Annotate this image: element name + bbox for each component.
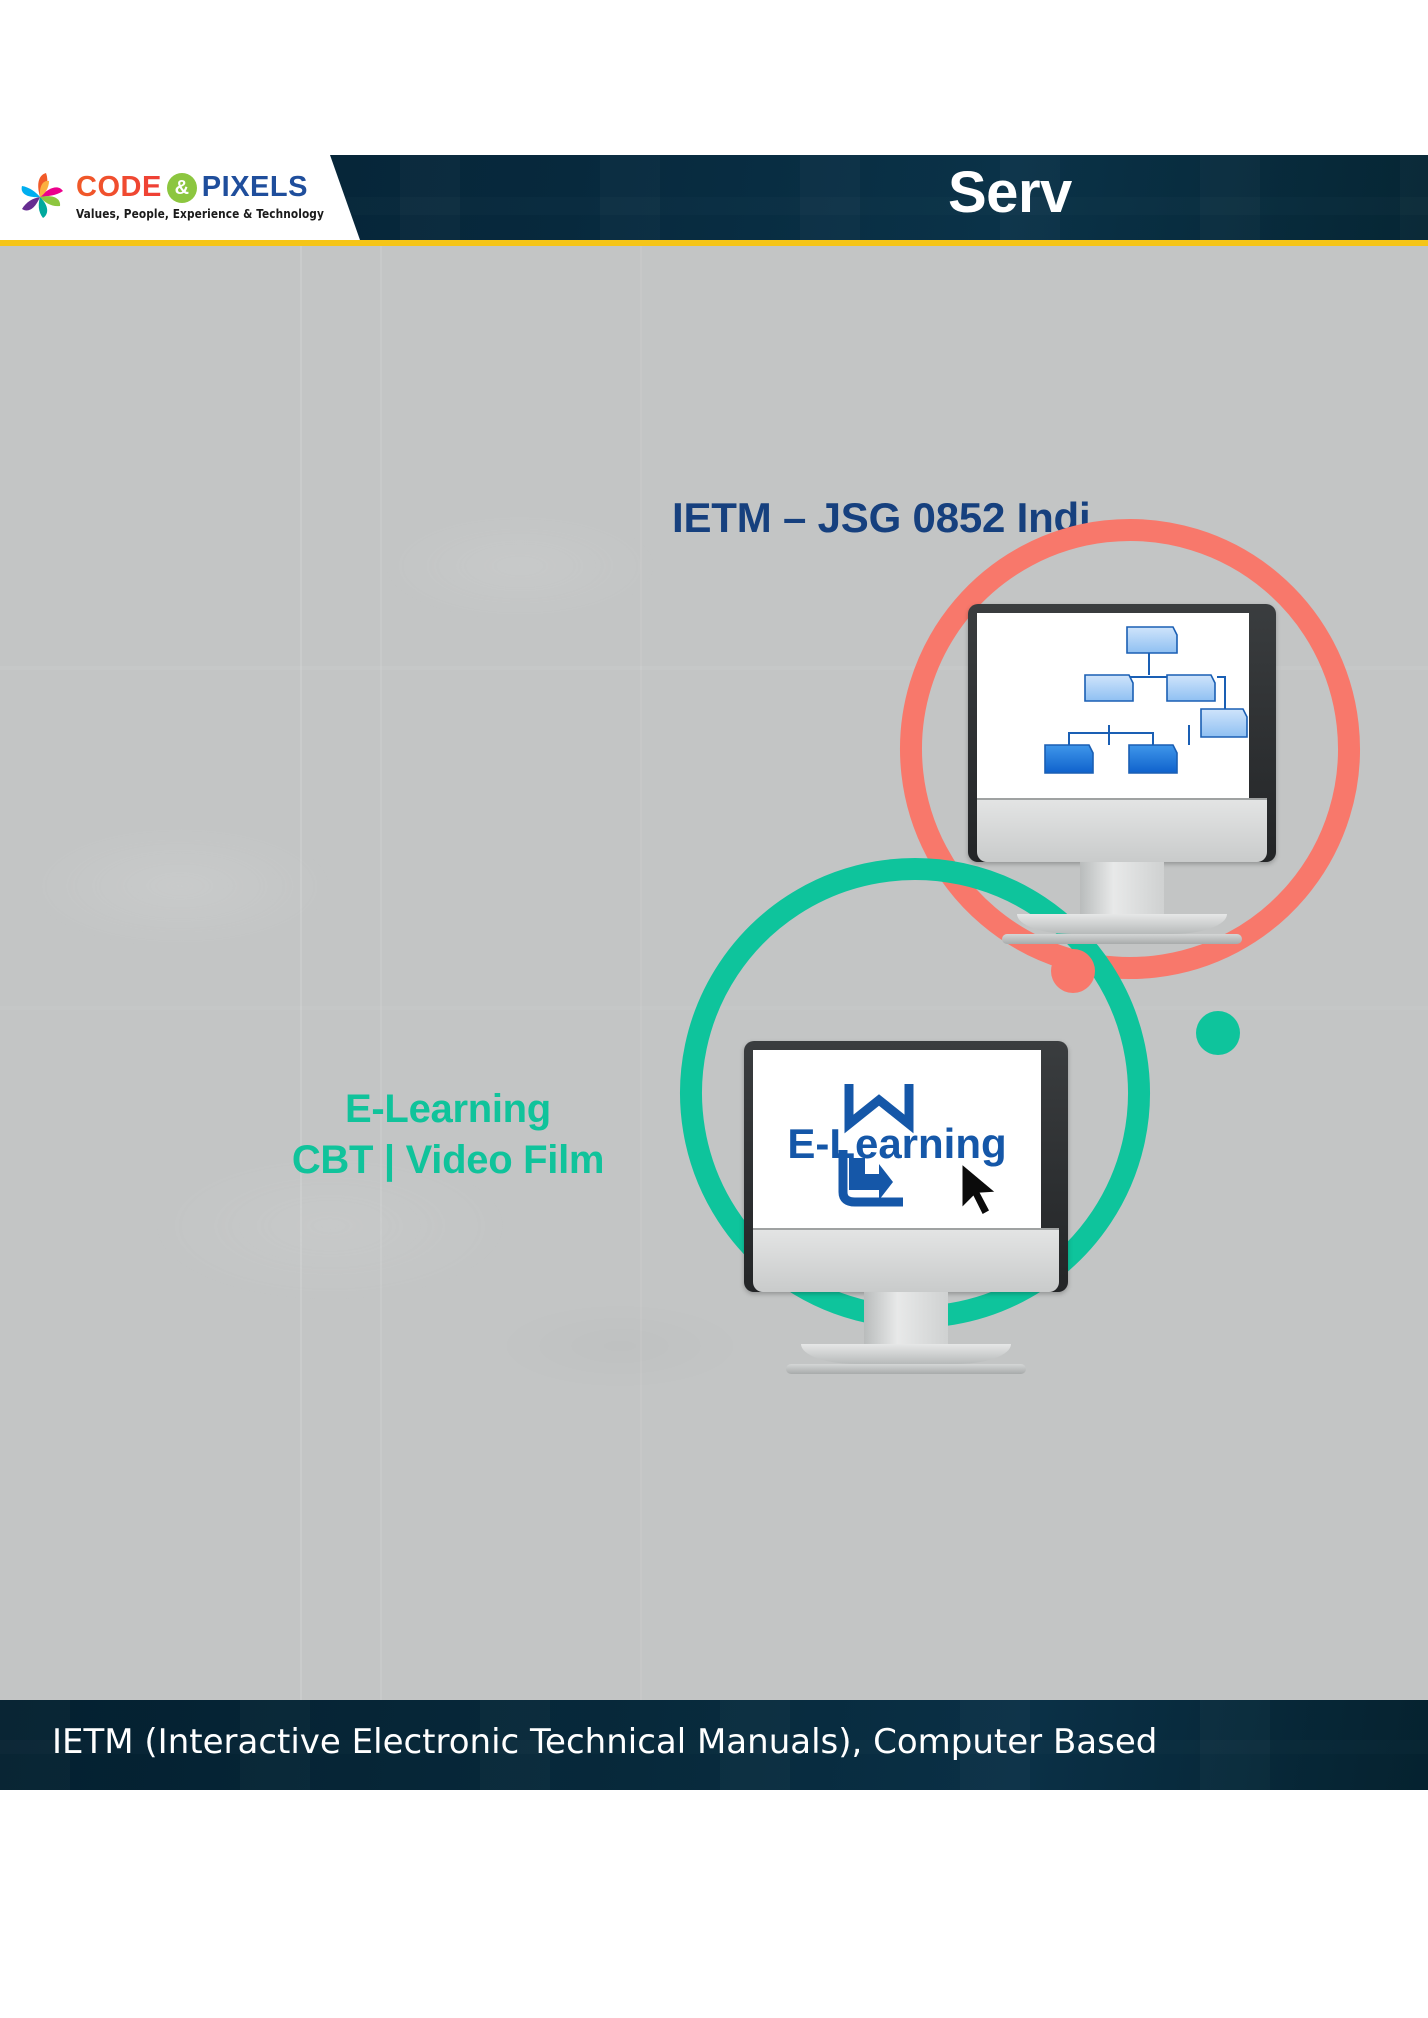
monitor-base bbox=[1017, 914, 1227, 934]
monitor-neck bbox=[864, 1292, 948, 1344]
cursor-icon bbox=[961, 1162, 998, 1216]
monitor-base-foot bbox=[786, 1364, 1026, 1374]
elearning-monitor-graphic: E-Learning bbox=[744, 1041, 1068, 1374]
monitor-base bbox=[801, 1344, 1011, 1364]
elearning-label-line1: E-Learning bbox=[345, 1087, 551, 1131]
monitor-chin bbox=[753, 1228, 1059, 1292]
logo-word-code: CODE bbox=[76, 173, 162, 202]
page-title: Serv bbox=[948, 159, 1072, 226]
monitor-chin bbox=[977, 798, 1267, 862]
slide-canvas: CODE & PIXELS Values, People, Experience… bbox=[0, 155, 1428, 1790]
slide-body: IETM – JSG 0852 Indi bbox=[0, 246, 1428, 1700]
ietm-heading: IETM – JSG 0852 Indi bbox=[672, 494, 1090, 542]
ietm-monitor-graphic bbox=[968, 604, 1276, 944]
footer-caption: IETM (Interactive Electronic Technical M… bbox=[52, 1722, 1157, 1762]
elearning-label-line2: CBT | Video Film bbox=[268, 1135, 628, 1186]
pinwheel-logo-icon bbox=[14, 171, 66, 223]
monitor-neck bbox=[1080, 862, 1164, 914]
elearning-screen-text: E-Learning bbox=[787, 1120, 1006, 1167]
monitor-base-foot bbox=[1002, 934, 1242, 944]
flowchart-icon bbox=[977, 613, 1249, 798]
logo-plate: CODE & PIXELS Values, People, Experience… bbox=[0, 155, 360, 240]
elearning-book-icon: E-Learning bbox=[753, 1050, 1041, 1228]
logo-ampersand-badge: & bbox=[167, 173, 197, 203]
logo-tagline: Values, People, Experience & Technology bbox=[76, 208, 324, 221]
teal-dot-marker bbox=[1196, 1011, 1240, 1055]
logo-word-pixels: PIXELS bbox=[202, 173, 308, 202]
coral-dot-marker bbox=[1051, 949, 1095, 993]
elearning-label: E-Learning CBT | Video Film bbox=[268, 1084, 628, 1186]
footer-bar: IETM (Interactive Electronic Technical M… bbox=[0, 1700, 1428, 1790]
header-bar: CODE & PIXELS Values, People, Experience… bbox=[0, 155, 1428, 240]
